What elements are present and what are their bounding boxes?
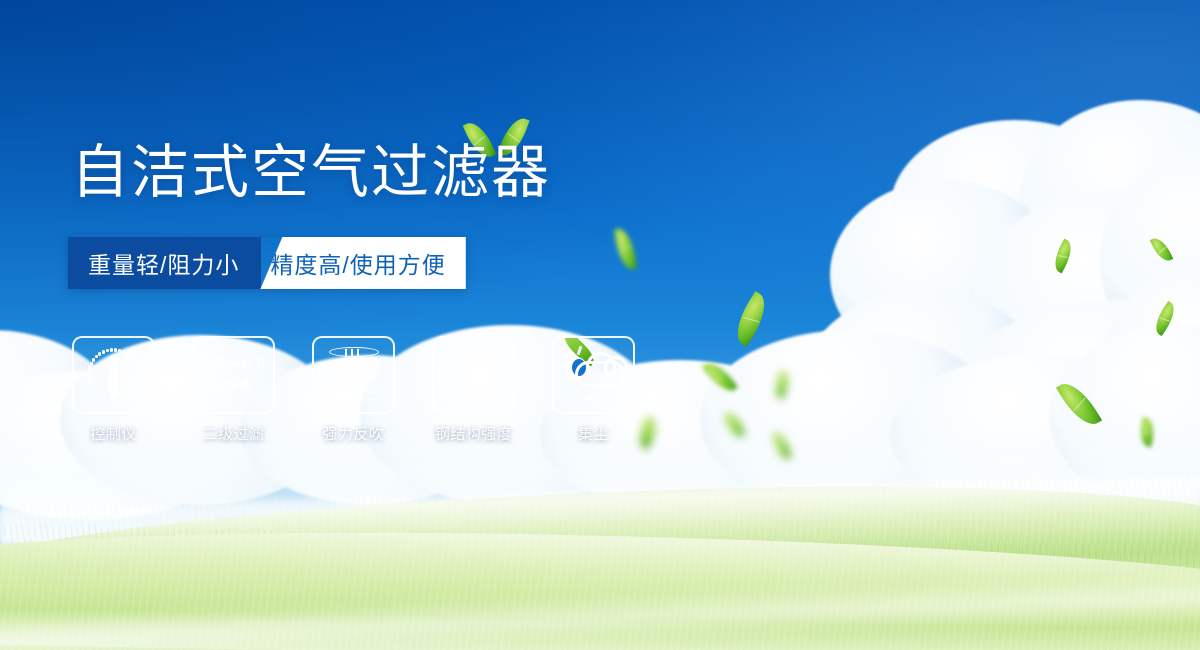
dial-tick [114,348,117,351]
feature-item[interactable]: 强力反吹 [312,336,395,444]
feature-item[interactable]: Air 集尘 [552,336,635,444]
steel-material: 钢板 [442,375,506,396]
dial-gauge-icon: NO OFF [83,346,145,404]
dial-tick [137,374,140,377]
dial-tick [88,365,91,368]
pressure-unit: MPA [201,375,265,396]
dial-tick [90,362,93,365]
feature-label: 钢结构强度 [435,423,513,444]
air-label: Air [561,392,627,406]
dial-tick [110,348,113,351]
cloud-air-icon: Air [561,347,627,403]
feature-icon-box: NO OFF [72,336,155,414]
dial-tick [102,350,105,353]
feature-icon-box: 0.6～0.8 MPA [192,336,275,414]
dial-tick [106,349,109,352]
steel-thickness: 3～8MM [442,354,506,375]
dial-tick [92,358,95,361]
product-banner: 自洁式空气过滤器 重量轻/阻力小 精度高/使用方便 NO OFF 控制仪 [0,0,1200,650]
dial-tick [88,382,91,385]
steel-plate-text-icon: 3～8MM 钢板 [442,354,506,396]
dial-tick [136,365,139,368]
page-title: 自洁式空气过滤器 [71,142,551,203]
sun-ray [561,365,570,368]
feature-icon-box [312,336,395,414]
feature-item[interactable]: 0.6～0.8 MPA 二级过滤 [192,336,275,444]
filter-cartridge-icon [326,345,382,405]
subtitle-right: 精度高/使用方便 [260,237,465,289]
feature-item[interactable]: NO OFF 控制仪 [72,336,155,444]
dial-off-label: OFF [130,392,145,400]
feature-label: 二级过滤 [202,423,264,444]
feature-list: NO OFF 控制仪 0.6～0.8 MPA 二级过滤 [72,336,635,444]
pressure-value: 0.6～0.8 [201,354,265,375]
feature-icon-box: Air [552,336,635,414]
dial-tick [98,352,101,355]
feature-item[interactable]: 3～8MM 钢板 钢结构强度 [432,336,515,444]
dial-tick [135,382,138,385]
subtitle-left: 重量轻/阻力小 [68,237,261,289]
dial-tick [87,378,90,381]
feature-icon-box: 3～8MM 钢板 [432,336,515,414]
dial-tick [122,350,125,353]
feature-label: 集尘 [578,423,609,444]
feature-label: 控制仪 [90,423,137,444]
dial-tick [136,378,139,381]
pressure-text-icon: 0.6～0.8 MPA [201,354,265,396]
dial-tick [118,349,121,352]
dial-tick [137,370,140,373]
subtitle-bar: 重量轻/阻力小 精度高/使用方便 [68,237,466,289]
feature-label: 强力反吹 [322,423,384,444]
